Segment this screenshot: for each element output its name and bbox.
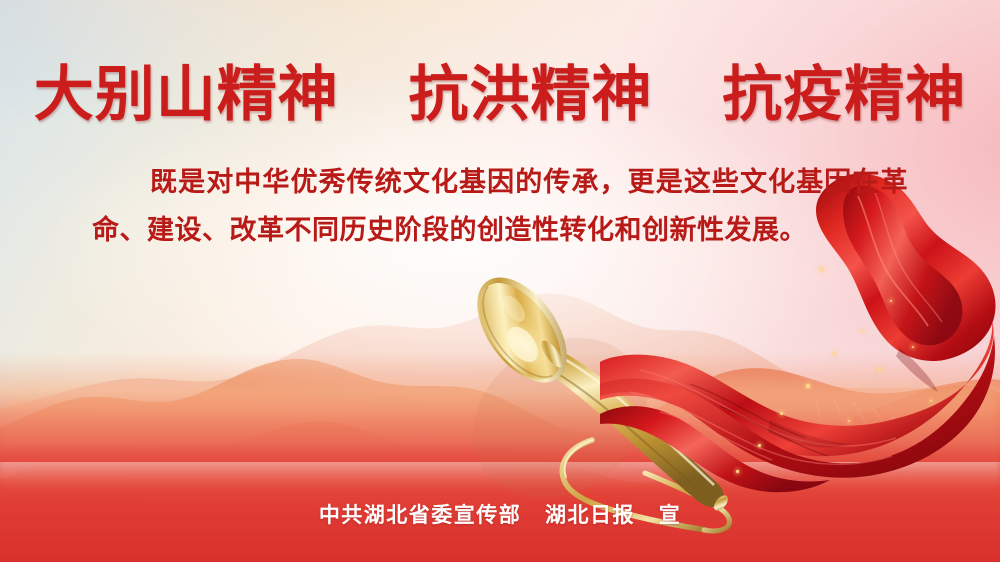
footer-part-3: 宣: [659, 504, 682, 527]
page-title: 大别山精神 抗洪精神 抗疫精神: [0, 62, 1000, 128]
footer-credit: 中共湖北省委宣传部 湖北日报 宣: [0, 503, 1000, 529]
title-phrase-1: 大别山精神: [34, 60, 339, 130]
body-paragraph: 既是对中华优秀传统文化基因的传承，更是这些文化基因在革命、建设、改革不同历史阶段…: [92, 158, 908, 254]
footer-part-2: 湖北日报: [545, 504, 635, 527]
footer-part-1: 中共湖北省委宣传部: [319, 504, 522, 527]
poster-canvas: 大别山精神 抗洪精神 抗疫精神 既是对中华优秀传统文化基因的传承，更是这些文化基…: [0, 0, 1000, 562]
title-phrase-3: 抗疫精神: [722, 60, 966, 130]
title-phrase-2: 抗洪精神: [409, 60, 653, 130]
